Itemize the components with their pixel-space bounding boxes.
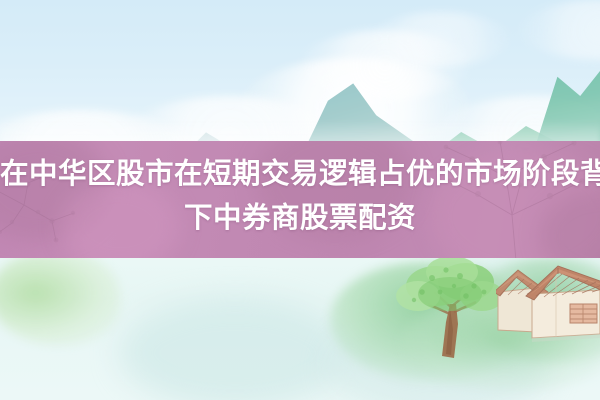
house-illustration <box>496 258 600 353</box>
house-icon <box>496 258 600 353</box>
cloud-icon <box>370 12 510 66</box>
page-title: 在中华区股市在短期交易逻辑占优的市场阶段背景 下中券商股票配资 <box>0 152 600 240</box>
ground-haze <box>120 298 350 400</box>
title-line-2: 下中券商股票配资 <box>0 196 600 240</box>
title-line-1: 在中华区股市在短期交易逻辑占优的市场阶段背景 <box>0 152 600 196</box>
foliage-left <box>0 250 120 345</box>
banner-image: 在中华区股市在短期交易逻辑占优的市场阶段背景 下中券商股票配资 <box>0 0 600 400</box>
